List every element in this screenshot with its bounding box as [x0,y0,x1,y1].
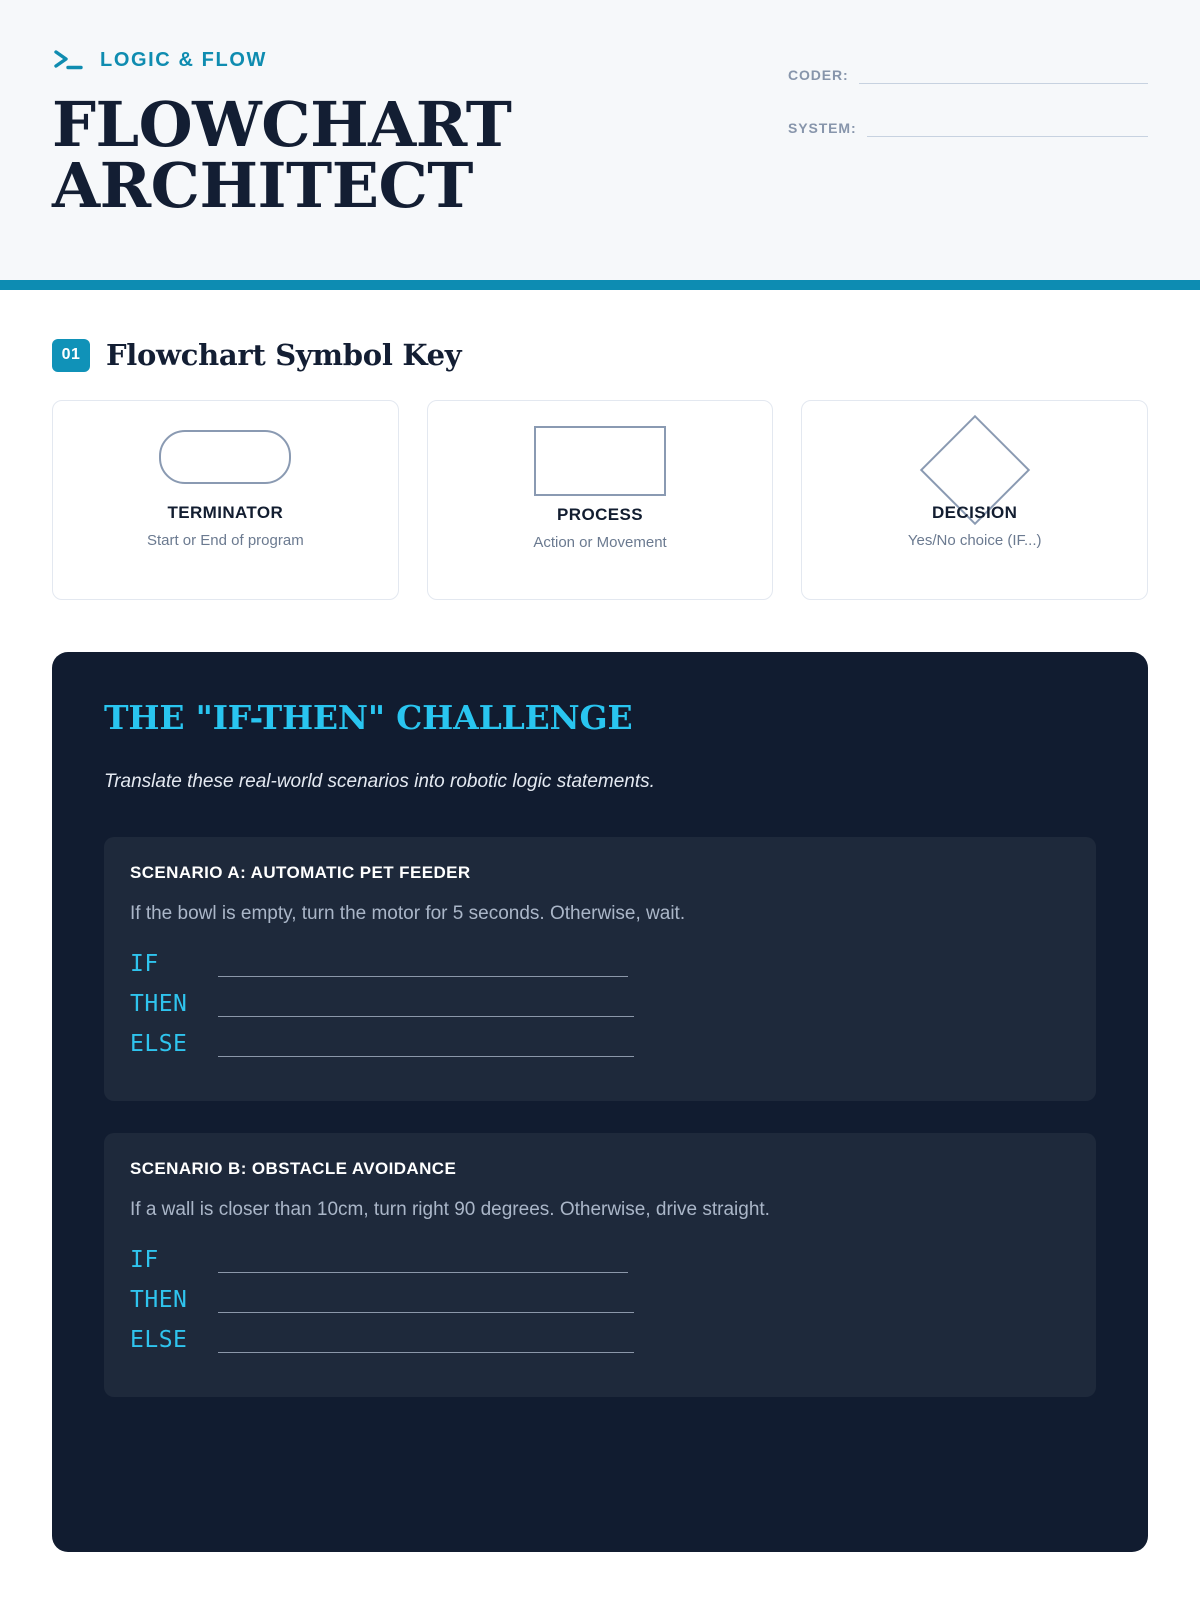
system-field-row: SYSTEM: [788,114,1148,137]
section-header: 01 Flowchart Symbol Key [52,338,1148,372]
coder-input[interactable] [859,61,1148,84]
symbol-desc-process: Action or Movement [533,534,666,551]
rectangle-shape [534,426,666,496]
logic-input-if-b[interactable] [218,1252,628,1273]
accent-bar [0,280,1200,290]
symbol-desc-terminator: Start or End of program [147,532,304,549]
symbol-key-section: 01 Flowchart Symbol Key TERMINATOR Start… [0,290,1200,600]
section-title: Flowchart Symbol Key [106,338,461,372]
scenario-title-a: SCENARIO A: AUTOMATIC PET FEEDER [130,863,1070,883]
logic-keyword-then: THEN [130,991,206,1017]
section-number-badge: 01 [52,339,90,372]
logic-row-if-a: IF [130,951,1070,977]
page-header: LOGIC & FLOW FLOWCHART ARCHITECT CODER: … [0,0,1200,290]
symbol-label-terminator: TERMINATOR [167,503,283,523]
logic-keyword-else: ELSE [130,1031,206,1057]
scenario-title-b: SCENARIO B: OBSTACLE AVOIDANCE [130,1159,1070,1179]
coder-field-row: CODER: [788,61,1148,84]
challenge-title: THE "IF-THEN" CHALLENGE [104,698,1096,737]
logic-input-else-a[interactable] [218,1036,634,1057]
symbol-card-grid: TERMINATOR Start or End of program PROCE… [52,400,1148,600]
logic-row-else-b: ELSE [130,1327,1070,1353]
page-title: FLOWCHART ARCHITECT [52,95,532,217]
stadium-shape [159,430,291,484]
symbol-desc-decision: Yes/No choice (IF...) [908,532,1042,549]
scenario-desc-b: If a wall is closer than 10cm, turn righ… [130,1199,1070,1221]
logic-row-then-b: THEN [130,1287,1070,1313]
header-fields: CODER: SYSTEM: [788,45,1148,290]
header-left: LOGIC & FLOW FLOWCHART ARCHITECT [52,45,712,290]
symbol-card-terminator: TERMINATOR Start or End of program [52,400,399,600]
logic-row-then-a: THEN [130,991,1070,1017]
symbol-label-process: PROCESS [557,505,643,525]
logic-keyword-else: ELSE [130,1327,206,1353]
challenge-panel: THE "IF-THEN" CHALLENGE Translate these … [52,652,1148,1552]
brand-eyebrow: LOGIC & FLOW [52,45,712,75]
scenario-desc-a: If the bowl is empty, turn the motor for… [130,903,1070,925]
symbol-card-decision: DECISION Yes/No choice (IF...) [801,400,1148,600]
challenge-subtitle: Translate these real-world scenarios int… [104,771,1096,793]
logic-input-if-a[interactable] [218,956,628,977]
scenario-card-a: SCENARIO A: AUTOMATIC PET FEEDER If the … [104,837,1096,1101]
logic-row-if-b: IF [130,1247,1070,1273]
logic-input-else-b[interactable] [218,1332,634,1353]
terminal-prompt-icon [52,47,86,73]
logic-row-else-a: ELSE [130,1031,1070,1057]
symbol-card-process: PROCESS Action or Movement [427,400,774,600]
logic-input-then-b[interactable] [218,1292,634,1313]
coder-field-label: CODER: [788,67,849,84]
symbol-label-decision: DECISION [932,503,1017,523]
logic-keyword-if: IF [130,951,206,977]
logic-keyword-then: THEN [130,1287,206,1313]
scenario-card-b: SCENARIO B: OBSTACLE AVOIDANCE If a wall… [104,1133,1096,1397]
system-field-label: SYSTEM: [788,120,857,137]
shape-slot [534,411,666,511]
shape-slot [159,411,291,503]
system-input[interactable] [867,114,1148,137]
logic-keyword-if: IF [130,1247,206,1273]
brand-eyebrow-text: LOGIC & FLOW [100,49,267,72]
logic-input-then-a[interactable] [218,996,634,1017]
